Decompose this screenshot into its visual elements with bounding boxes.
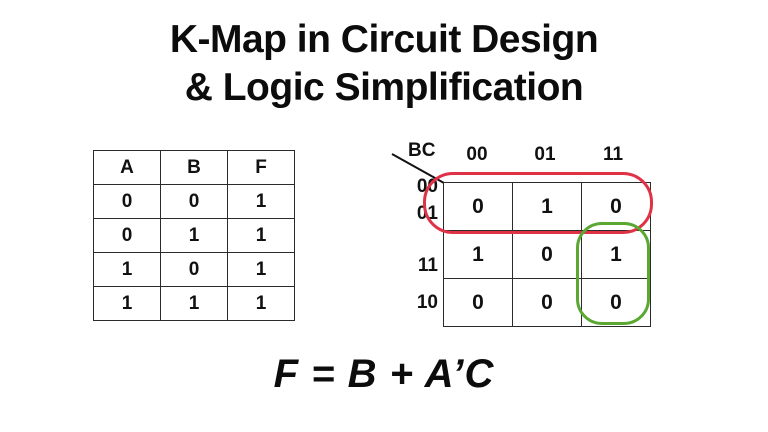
truth-table-header-row: A B F	[94, 151, 295, 185]
page-title-line-2: & Logic Simplification	[0, 64, 768, 112]
truth-table-header-a: A	[94, 151, 161, 185]
truth-cell-r3-a: 1	[94, 287, 161, 321]
kmap-row: 1 0 1	[444, 231, 651, 279]
kmap-cell-r0-c1: 1	[513, 183, 582, 231]
truth-cell-r3-f: 1	[228, 287, 295, 321]
page-title: K-Map in Circuit Design & Logic Simplifi…	[0, 16, 768, 111]
truth-table-header-b: B	[161, 151, 228, 185]
kmap-row: 0 0 0	[444, 279, 651, 327]
truth-cell-r2-a: 1	[94, 253, 161, 287]
kmap-corner-label-bc: BC	[408, 140, 435, 162]
truth-cell-r3-b: 1	[161, 287, 228, 321]
kmap-row-header-2: 11	[390, 255, 438, 277]
truth-table: A B F 0 0 1 0 1 1 1 0 1 1 1 1	[93, 150, 295, 321]
truth-cell-r2-b: 0	[161, 253, 228, 287]
kmap-row-header-1: 01	[390, 203, 438, 225]
table-row: 1 0 1	[94, 253, 295, 287]
kmap-row-header-3: 10	[390, 292, 438, 314]
kmap-col-header-2: 11	[579, 144, 647, 166]
simplified-expression: F = B + A’C	[0, 352, 768, 397]
table-row: 0 0 1	[94, 185, 295, 219]
kmap-cell-r0-c2: 0	[582, 183, 651, 231]
kmap-cell-r2-c2: 0	[582, 279, 651, 327]
truth-cell-r1-f: 1	[228, 219, 295, 253]
kmap-cell-r1-c1: 0	[513, 231, 582, 279]
kmap-cell-r2-c1: 0	[513, 279, 582, 327]
kmap-row-header-0: 00	[390, 176, 438, 198]
kmap-cell-r2-c0: 0	[444, 279, 513, 327]
slide-canvas: K-Map in Circuit Design & Logic Simplifi…	[0, 0, 768, 432]
table-row: 0 1 1	[94, 219, 295, 253]
kmap-col-header-0: 00	[443, 144, 511, 166]
kmap-cell-r1-c2: 1	[582, 231, 651, 279]
kmap-cell-r1-c0: 1	[444, 231, 513, 279]
karnaugh-map: BC 00 01 11 00 01 11 10 0 1 0 1 0 1	[390, 140, 680, 335]
truth-cell-r1-a: 0	[94, 219, 161, 253]
kmap-row: 0 1 0	[444, 183, 651, 231]
truth-cell-r0-b: 0	[161, 185, 228, 219]
truth-table-header-f: F	[228, 151, 295, 185]
kmap-col-header-1: 01	[511, 144, 579, 166]
table-row: 1 1 1	[94, 287, 295, 321]
kmap-cell-r0-c0: 0	[444, 183, 513, 231]
truth-cell-r1-b: 1	[161, 219, 228, 253]
truth-cell-r2-f: 1	[228, 253, 295, 287]
page-title-line-1: K-Map in Circuit Design	[0, 16, 768, 64]
truth-cell-r0-f: 1	[228, 185, 295, 219]
kmap-grid: 0 1 0 1 0 1 0 0 0	[443, 182, 651, 327]
truth-cell-r0-a: 0	[94, 185, 161, 219]
